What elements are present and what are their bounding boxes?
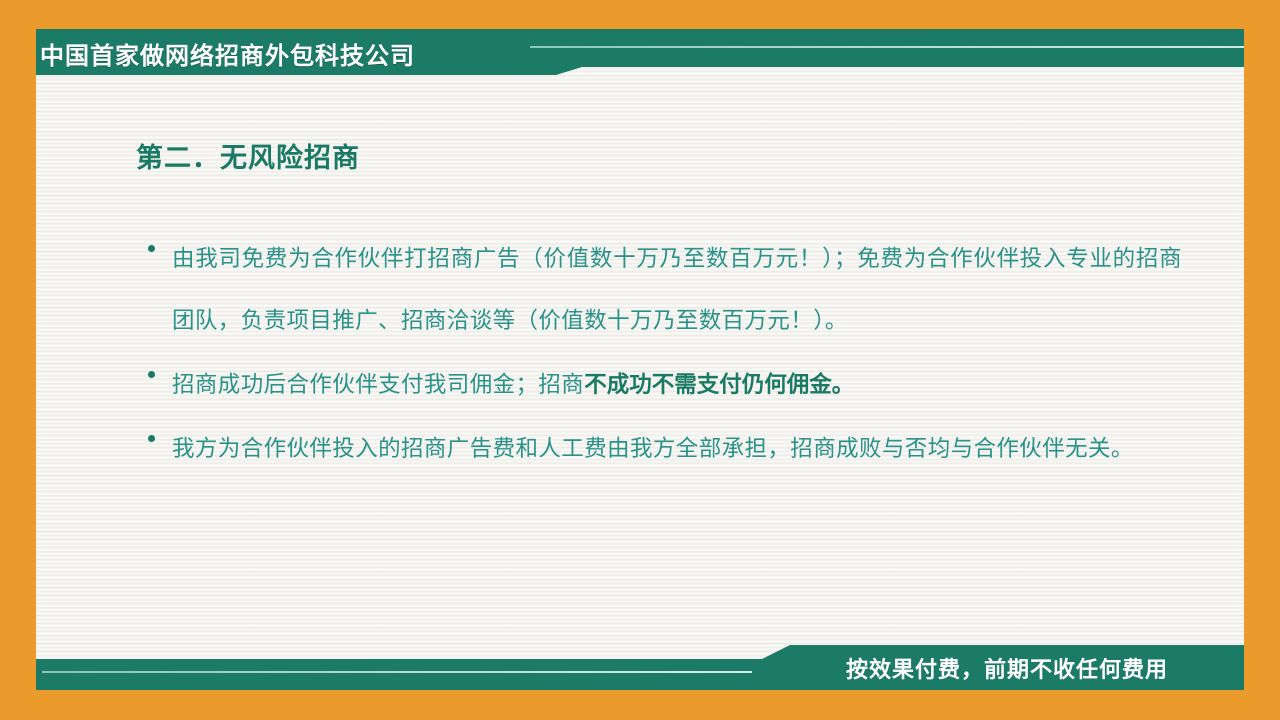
list-item: 我方为合作伙伴投入的招商广告费和人工费由我方全部承担，招商成败与否均与合作伙伴无… [140,418,1180,480]
header-banner-text: 中国首家做网络招商外包科技公司 [40,33,560,73]
list-item: 招商成功后合作伙伴支付我司佣金；招商不成功不需支付仍何佣金。 [140,354,1180,416]
list-item-text-normal: 招商成功后合作伙伴支付我司佣金；招商 [172,372,584,397]
page-title: 第二．无风险招商 [136,136,360,175]
footer-text: 按效果付费，前期不收任何费用 [846,648,1168,688]
bullet-dot-icon [148,371,155,378]
bullet-dot-icon [148,245,155,252]
footer-hairline-divider [42,671,752,673]
list-item-text: 由我司免费为合作伙伴打招商广告（价值数十万乃至数百万元！）；免费为合作伙伴投入专… [172,228,1182,352]
list-item-text: 我方为合作伙伴投入的招商广告费和人工费由我方全部承担，招商成败与否均与合作伙伴无… [172,418,1182,480]
header-hairline-divider [530,46,1244,48]
bullet-list: 由我司免费为合作伙伴打招商广告（价值数十万乃至数百万元！）；免费为合作伙伴投入专… [140,228,1180,482]
list-item-text: 招商成功后合作伙伴支付我司佣金；招商不成功不需支付仍何佣金。 [172,354,1180,416]
bottom-orange-strip [0,690,1280,720]
top-orange-strip [36,0,1244,29]
list-item-text-emphasis: 不成功不需支付仍何佣金。 [584,372,854,397]
bullet-dot-icon [148,435,155,442]
slide-canvas: 中国首家做网络招商外包科技公司 第二．无风险招商 由我司免费为合作伙伴打招商广告… [0,0,1280,720]
slide-content: 第二．无风险招商 由我司免费为合作伙伴打招商广告（价值数十万乃至数百万元！）；免… [36,100,1244,620]
list-item: 由我司免费为合作伙伴打招商广告（价值数十万乃至数百万元！）；免费为合作伙伴投入专… [140,228,1180,352]
